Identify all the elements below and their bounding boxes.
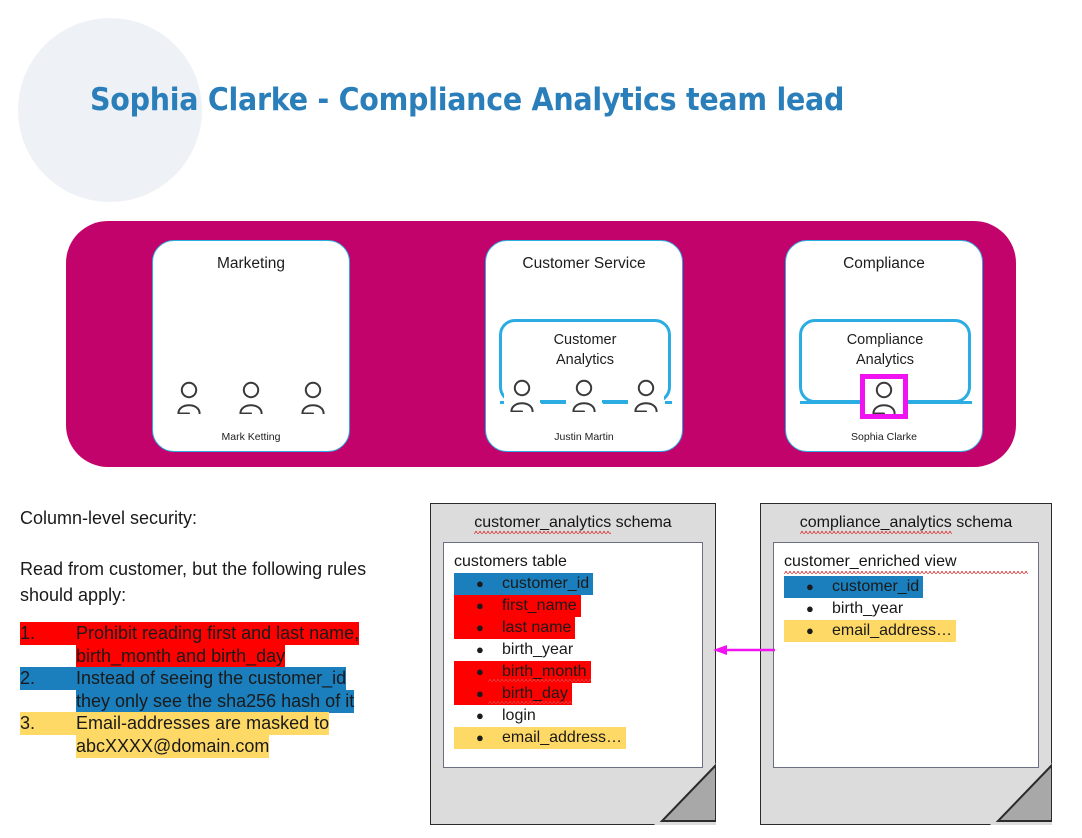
department-person-name: Mark Ketting — [153, 431, 349, 443]
column-name: email_address… — [488, 728, 626, 748]
person-icon-row — [153, 381, 349, 414]
schema-body: customers table ●customer_id ●first_name… — [443, 542, 703, 768]
rule-line-1: 2.Instead of seeing the customer_id — [20, 667, 400, 690]
rule-line-2: abcXXXX@domain.com — [20, 735, 400, 758]
department-person-name: Sophia Clarke — [786, 431, 982, 443]
person-icon[interactable] — [175, 381, 203, 414]
person-icon-wrap[interactable] — [295, 381, 331, 414]
security-intro-text: Read from customer, but the following ru… — [20, 556, 400, 608]
bullet-icon: ● — [454, 639, 488, 661]
column-row[interactable]: ●birth_year — [454, 639, 692, 661]
rule-line-1: 3.Email-addresses are masked to — [20, 712, 400, 735]
department-title: Compliance — [786, 255, 982, 273]
schema-name: compliance_analytics — [800, 514, 952, 534]
column-name: first_name — [488, 596, 581, 616]
view-name: customer_enriched view — [784, 553, 1028, 574]
analytics-box-bottom-segment — [603, 401, 629, 404]
column-list: ●customer_id ●birth_year ●email_address… — [784, 576, 1028, 642]
schema-document-title: compliance_analytics schema — [761, 514, 1051, 532]
bullet-icon: ● — [454, 683, 488, 705]
rule-number: 1. — [20, 622, 76, 645]
person-icon[interactable] — [237, 381, 265, 414]
person-icon-row — [786, 379, 982, 414]
rule-item: 2.Instead of seeing the customer_id they… — [20, 667, 400, 712]
analytics-box-bottom-segment — [800, 401, 866, 404]
analytics-subteam-label: Customer Analytics — [502, 330, 668, 370]
page-fold-corner — [654, 763, 716, 825]
column-row[interactable]: ●last name — [454, 617, 692, 639]
person-icon-row — [486, 379, 682, 412]
schema-body: customer_enriched view ●customer_id ●bir… — [773, 542, 1039, 768]
department-card-customer-service[interactable]: Customer Service Customer Analytics — [485, 240, 683, 452]
rule-item: 3.Email-addresses are masked to abcXXXX@… — [20, 712, 400, 757]
person-icon-wrap[interactable] — [628, 379, 664, 412]
column-name: login — [488, 706, 540, 726]
schema-name: customer_analytics — [474, 514, 611, 534]
column-list: ●customer_id ●first_name ●last name ●bir… — [454, 573, 692, 749]
column-name: email_address… — [818, 621, 956, 641]
rule-line-1: 1.Prohibit reading first and last name, — [20, 622, 400, 645]
bullet-icon: ● — [784, 576, 818, 598]
rule-text-cont: abcXXXX@domain.com — [76, 735, 269, 758]
person-icon[interactable] — [570, 379, 598, 412]
column-row[interactable]: ●first_name — [454, 595, 692, 617]
bullet-icon: ● — [454, 573, 488, 595]
rule-text-cont: birth_month and birth_day — [76, 645, 285, 668]
rule-highlight: 1.Prohibit reading first and last name, — [20, 622, 359, 645]
analytics-subteam-label: Compliance Analytics — [802, 330, 968, 370]
table-name: customers table — [454, 553, 692, 571]
column-row[interactable]: ●customer_id — [454, 573, 692, 595]
rule-text: Prohibit reading first and last name, — [76, 623, 359, 643]
bullet-icon: ● — [454, 705, 488, 727]
schema-suffix: schema — [952, 514, 1012, 531]
column-row[interactable]: ●birth_year — [784, 598, 1028, 620]
security-heading: Column-level security: — [20, 508, 197, 529]
column-row[interactable]: ●login — [454, 705, 692, 727]
page-title: Sophia Clarke - Compliance Analytics tea… — [90, 82, 844, 118]
column-row[interactable]: ●customer_id — [784, 576, 1028, 598]
bullet-icon: ● — [784, 598, 818, 620]
column-name: birth_year — [488, 640, 577, 660]
column-name: birth_year — [818, 599, 907, 619]
analytics-box-bottom-segment — [904, 401, 972, 404]
person-icon[interactable] — [870, 381, 898, 414]
page-fold-corner — [990, 763, 1052, 825]
schema-suffix: schema — [611, 514, 671, 531]
analytics-box-bottom-segment — [541, 401, 567, 404]
rule-text: Email-addresses are masked to — [76, 713, 329, 733]
column-row[interactable]: ●birth_month — [454, 661, 692, 683]
department-title: Marketing — [153, 255, 349, 273]
bullet-icon: ● — [784, 620, 818, 642]
rule-item: 1.Prohibit reading first and last name, … — [20, 622, 400, 667]
column-name: last name — [488, 618, 575, 638]
department-person-name: Justin Martin — [486, 431, 682, 443]
schema-document-customer-analytics[interactable]: customer_analytics schema customers tabl… — [430, 503, 716, 825]
column-name: customer_id — [818, 577, 923, 597]
bullet-icon: ● — [454, 727, 488, 749]
rule-text: Instead of seeing the customer_id — [76, 668, 346, 688]
person-icon-wrap[interactable] — [566, 379, 602, 412]
rule-number: 2. — [20, 667, 76, 690]
department-card-marketing[interactable]: Marketing — [152, 240, 350, 452]
column-row[interactable]: ●birth_day — [454, 683, 692, 705]
rule-line-2: they only see the sha256 hash of it — [20, 690, 400, 713]
analytics-box-bottom-segment — [665, 401, 672, 404]
person-icon[interactable] — [508, 379, 536, 412]
rule-highlight: 2.Instead of seeing the customer_id — [20, 667, 346, 690]
column-name: customer_id — [488, 574, 593, 594]
schema-link-arrow — [713, 644, 775, 656]
column-row[interactable]: ●email_address… — [784, 620, 1028, 642]
person-icon[interactable] — [632, 379, 660, 412]
bullet-icon: ● — [454, 617, 488, 639]
bullet-icon: ● — [454, 595, 488, 617]
security-rules-list: 1.Prohibit reading first and last name, … — [20, 622, 400, 757]
department-card-compliance[interactable]: Compliance Compliance Analytics Sophia C… — [785, 240, 983, 452]
column-row[interactable]: ●email_address… — [454, 727, 692, 749]
rule-highlight: 3.Email-addresses are masked to — [20, 712, 329, 735]
rule-text-cont: they only see the sha256 hash of it — [76, 690, 354, 713]
rule-line-2: birth_month and birth_day — [20, 645, 400, 668]
person-icon-wrap[interactable] — [171, 381, 207, 414]
person-icon-wrap[interactable] — [233, 381, 269, 414]
schema-document-title: customer_analytics schema — [431, 514, 715, 532]
department-title: Customer Service — [486, 255, 682, 273]
schema-document-compliance-analytics[interactable]: compliance_analytics schema customer_enr… — [760, 503, 1052, 825]
person-icon[interactable] — [299, 381, 327, 414]
person-icon-wrap[interactable] — [504, 379, 540, 412]
column-name: birth_month — [488, 662, 591, 682]
bullet-icon: ● — [454, 661, 488, 683]
rule-number: 3. — [20, 712, 76, 735]
column-name: birth_day — [488, 684, 572, 704]
selected-person-highlight[interactable] — [865, 379, 903, 414]
